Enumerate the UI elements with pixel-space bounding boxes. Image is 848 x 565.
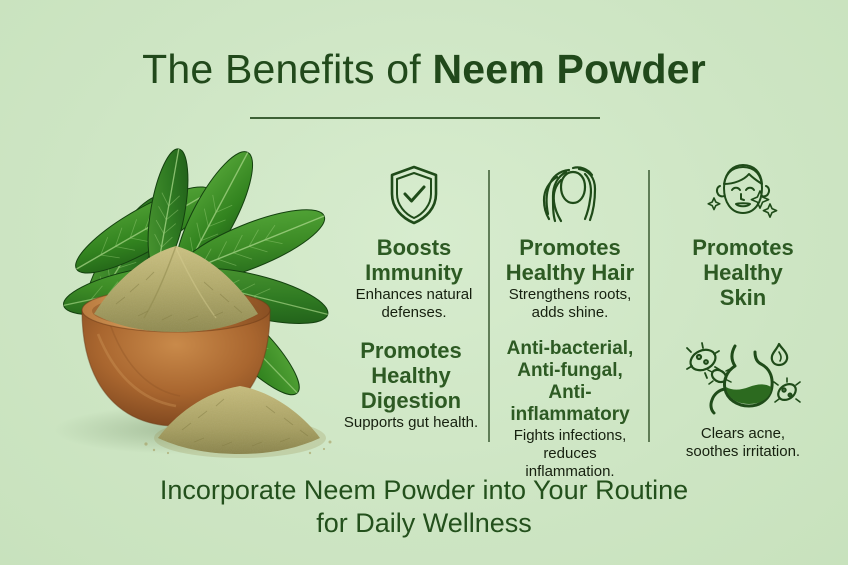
column-divider-1 [488, 170, 490, 442]
benefit-hair-heading: Promotes Healthy Hair [492, 235, 648, 285]
shield-check-icon [340, 164, 488, 231]
benefit-immunity-desc-line2: defenses. [381, 304, 446, 321]
benefit-digestion: Promotes Healthy Digestion Supports gut … [334, 338, 488, 432]
benefit-skin-heading-line3: Skin [720, 285, 766, 310]
benefit-antimicrobial-desc-line1: Fights infections, [514, 427, 627, 444]
page-title-bold: Neem Powder [433, 46, 706, 92]
benefit-antimicrobial-heading: Anti-bacterial, Anti-fungal, Anti-inflam… [492, 338, 648, 426]
benefit-acne-description: Clears acne, soothes irritation. [652, 425, 834, 461]
footer-cta: Incorporate Neem Powder into Your Routin… [0, 474, 848, 540]
benefit-antimicrobial-desc-line2: reduces [543, 445, 596, 462]
benefit-antimicrobial-heading-line1: Anti-bacterial, [507, 338, 634, 359]
benefit-acne: Clears acne, soothes irritation. [652, 340, 834, 461]
hair-icon [492, 160, 648, 231]
benefit-hair-description: Strengthens roots, adds shine. [492, 286, 648, 322]
benefit-skin: Promotes Healthy Skin [652, 160, 834, 310]
benefit-immunity-heading: Boosts Immunity [340, 235, 488, 285]
page-title-regular: The Benefits of [142, 46, 432, 92]
title-divider-rule [250, 117, 600, 119]
stomach-bacteria-icon [652, 340, 834, 421]
benefit-hair: Promotes Healthy Hair Strengthens roots,… [492, 160, 648, 322]
benefit-antimicrobial-heading-line2: Anti-fungal, [517, 360, 623, 381]
benefit-skin-heading-line1: Promotes [692, 235, 793, 260]
benefit-digestion-desc-line1: Supports gut health. [344, 414, 478, 431]
benefit-immunity-heading-line2: Immunity [365, 260, 463, 285]
page-title: The Benefits of Neem Powder [0, 44, 848, 94]
benefit-digestion-description: Supports gut health. [334, 414, 488, 432]
benefit-hair-desc-line2: adds shine. [532, 304, 609, 321]
benefit-antimicrobial: Anti-bacterial, Anti-fungal, Anti-inflam… [492, 338, 648, 481]
benefit-hair-heading-line1: Promotes [519, 235, 620, 260]
benefit-digestion-heading: Promotes Healthy Digestion [334, 338, 488, 413]
benefit-skin-heading-line2: Healthy [703, 260, 782, 285]
infographic-poster: The Benefits of Neem Powder [0, 0, 848, 565]
benefit-immunity-description: Enhances natural defenses. [340, 286, 488, 322]
benefit-acne-desc-line2: soothes irritation. [686, 443, 800, 460]
benefit-antimicrobial-heading-line3: Anti-inflammatory [510, 382, 629, 425]
glowing-face-icon [652, 160, 834, 231]
benefit-digestion-heading-line2: Healthy [371, 363, 450, 388]
footer-cta-line2: for Daily Wellness [0, 507, 848, 540]
benefit-acne-desc-line1: Clears acne, [701, 425, 785, 442]
benefit-hair-desc-line1: Strengthens roots, [509, 286, 632, 303]
benefit-digestion-heading-line1: Promotes [360, 338, 461, 363]
benefit-antimicrobial-description: Fights infections, reduces inflammation. [492, 427, 648, 481]
benefit-immunity-desc-line1: Enhances natural [356, 286, 473, 303]
benefit-immunity: Boosts Immunity Enhances natural defense… [340, 164, 488, 322]
column-divider-2 [648, 170, 650, 442]
benefit-digestion-heading-line3: Digestion [361, 388, 461, 413]
footer-cta-line1: Incorporate Neem Powder into Your Routin… [0, 474, 848, 507]
benefit-skin-heading: Promotes Healthy Skin [652, 235, 834, 310]
benefit-immunity-heading-line1: Boosts [377, 235, 452, 260]
benefit-hair-heading-line2: Healthy Hair [506, 260, 634, 285]
neem-powder-photo [18, 138, 338, 470]
